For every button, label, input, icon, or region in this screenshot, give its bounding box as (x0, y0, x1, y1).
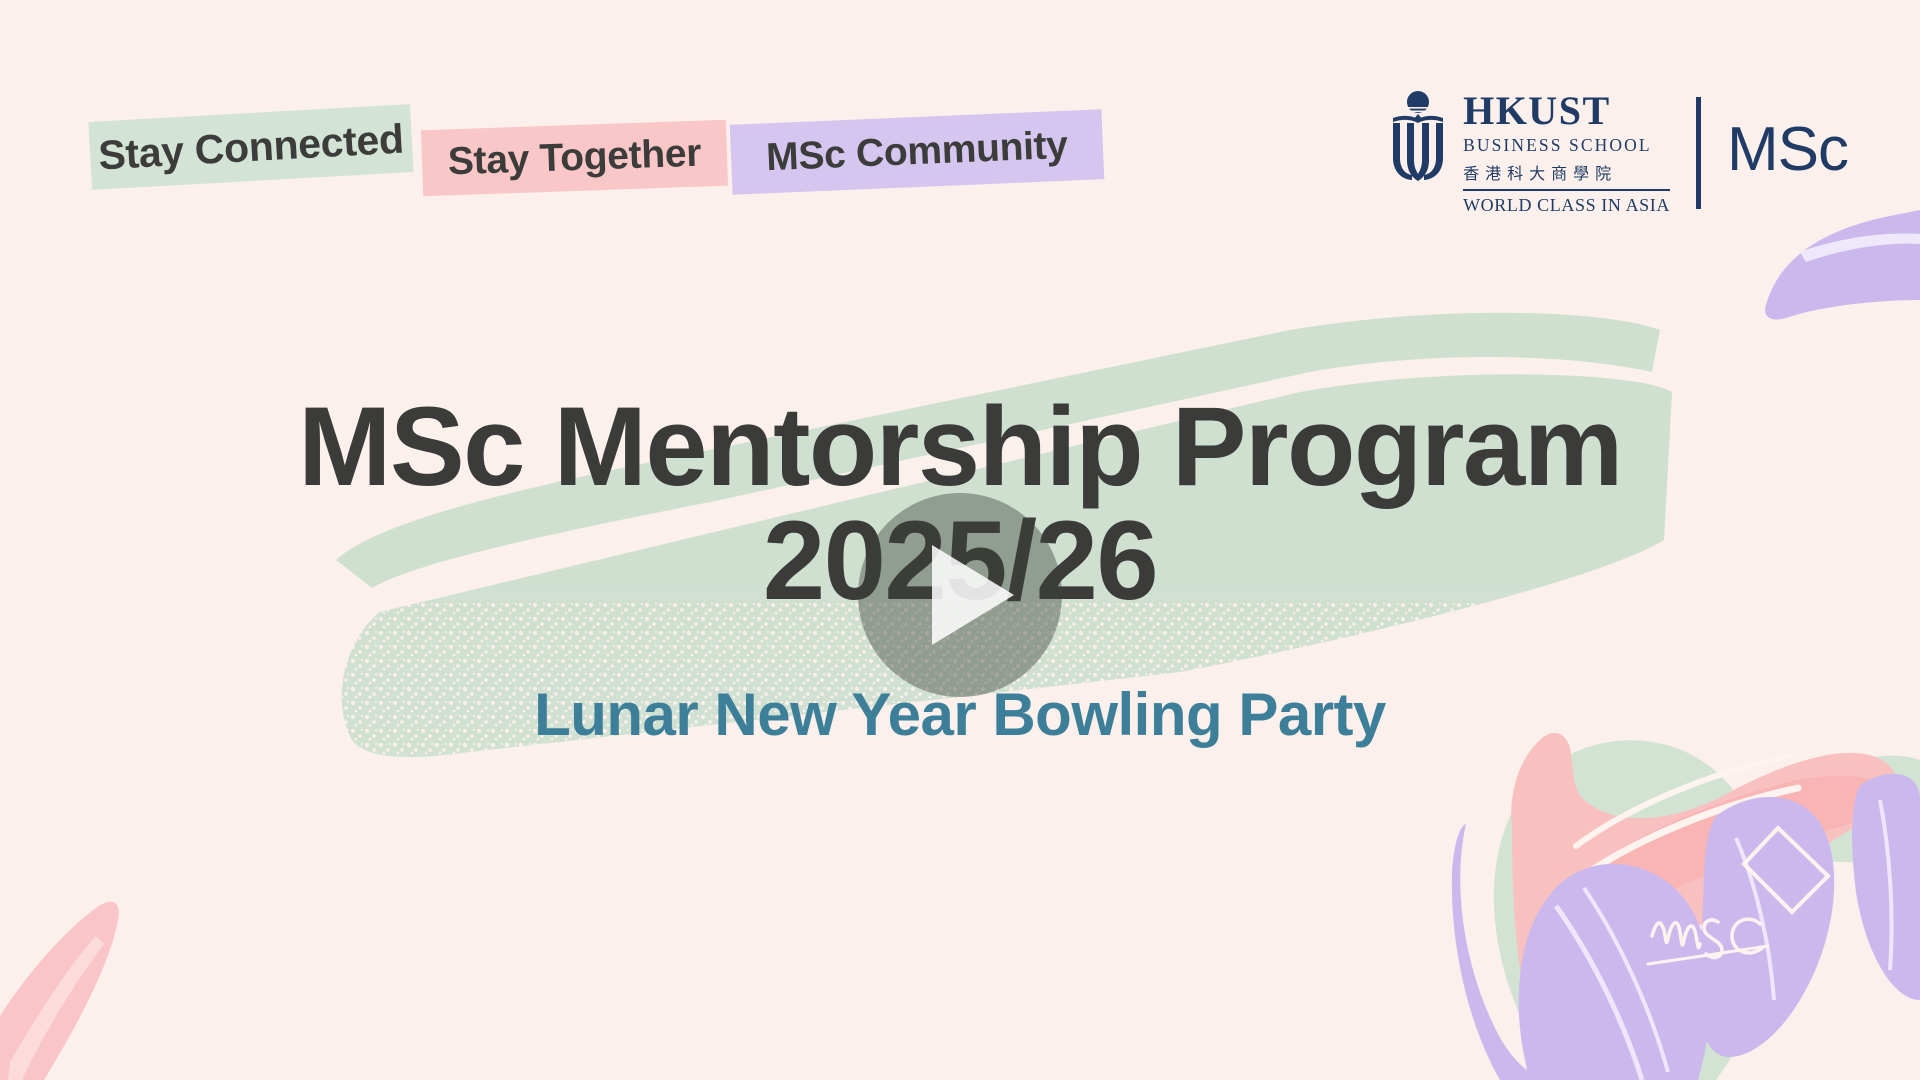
hkust-business-school-logo: HKUST BUSINESS SCHOOL 香港科大商學院 WORLD CLAS… (1387, 90, 1670, 216)
msc-signature (1648, 919, 1768, 964)
hkust-name: HKUST (1463, 92, 1670, 130)
tag-stay-connected-label: Stay Connected (97, 115, 405, 179)
hkust-subtitle: BUSINESS SCHOOL (1463, 135, 1670, 156)
logo-rule (1463, 189, 1670, 191)
tag-stay-together-label: Stay Together (447, 132, 702, 185)
play-button[interactable] (858, 493, 1062, 697)
hkust-emblem-icon (1387, 90, 1449, 182)
hkust-chinese-name: 香港科大商學院 (1463, 160, 1670, 184)
pink-brush-bottom-left (0, 902, 119, 1080)
tag-stay-connected: Stay Connected (88, 104, 413, 190)
tagline-strip: Stay Connected Stay Together MSc Communi… (90, 95, 1120, 205)
play-icon (932, 545, 1014, 645)
logo-divider (1696, 97, 1701, 209)
title-line-1: MSc Mentorship Program (0, 390, 1920, 504)
bottom-right-illustration (1452, 733, 1920, 1080)
hkust-tagline: WORLD CLASS IN ASIA (1463, 195, 1670, 216)
tag-stay-together: Stay Together (421, 120, 728, 197)
purple-brush-top-right (1765, 210, 1920, 319)
tag-msc-community: MSc Community (730, 109, 1105, 195)
tag-msc-community-label: MSc Community (765, 124, 1068, 181)
video-player[interactable]: Stay Connected Stay Together MSc Communi… (0, 0, 1920, 1080)
msc-program-wordmark: MSc (1727, 119, 1848, 187)
hkust-msc-logo-lockup: HKUST BUSINESS SCHOOL 香港科大商學院 WORLD CLAS… (1387, 93, 1848, 213)
